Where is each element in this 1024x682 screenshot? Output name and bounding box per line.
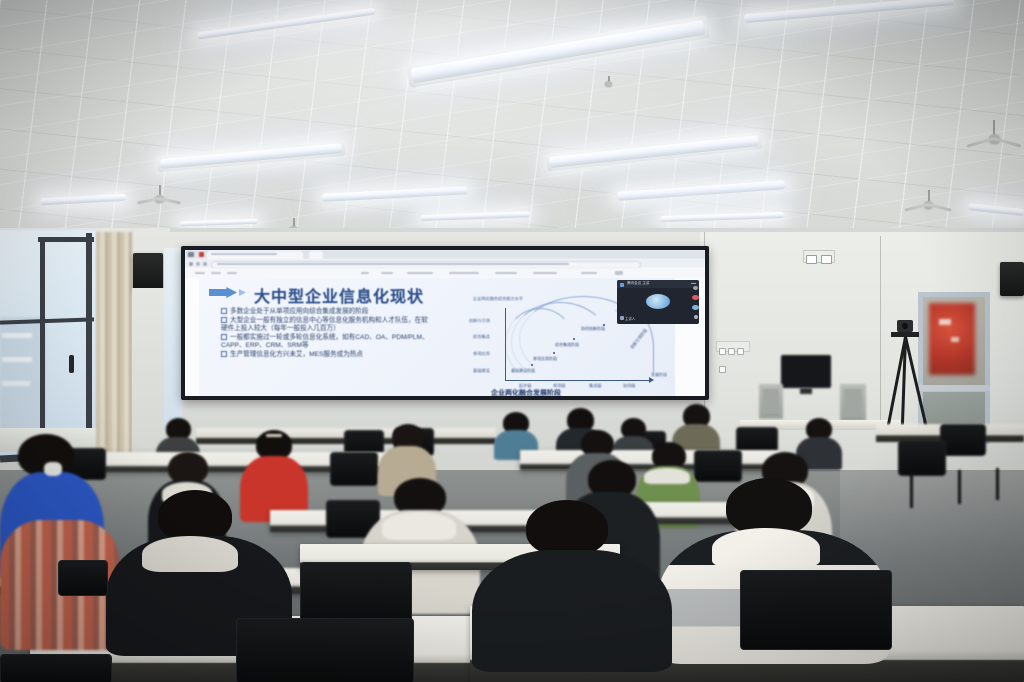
browser-toolbar (185, 259, 705, 268)
meeting-video-panel[interactable]: 腾讯会议 主讲 主讲人 (617, 280, 699, 324)
participant-label: 主讲人 (625, 316, 635, 321)
chair-leg (996, 468, 999, 500)
sidebar-record-icon[interactable] (692, 295, 699, 300)
hood-collar (382, 512, 456, 540)
projected-desktop: 大中型企业信息化现状 多数企业处于从单项应用向综合集成发展的阶段 大型企业一般有… (185, 250, 705, 396)
meeting-mic-icon[interactable] (620, 316, 624, 320)
participant-avatar (646, 294, 670, 309)
meeting-title-bar: 腾讯会议 主讲 (617, 280, 699, 288)
address-bar-url (217, 263, 569, 265)
ceiling-fan (600, 76, 618, 90)
bullet-marker-icon (221, 308, 227, 314)
ribbon-item[interactable] (407, 272, 433, 274)
hood-collar (712, 528, 820, 568)
camera-lens-icon (902, 323, 908, 329)
app-ribbon (185, 268, 705, 278)
student-hair (158, 490, 232, 542)
wall-speaker-right (1000, 262, 1024, 296)
face-mask (44, 462, 62, 476)
favicon (199, 252, 204, 257)
slide-bullet: 大型企业一般有独立的信息中心等信息化服务机构和人才队伍，在软硬件上投入较大（每年… (221, 317, 429, 334)
presentation-slide: 大中型企业信息化现状 多数企业处于从单项应用向综合集成发展的阶段 大型企业一般有… (199, 278, 675, 396)
bullet-marker-icon (221, 317, 227, 323)
chart-annotation: 综合集成阶段 (555, 342, 579, 348)
speaker-right (840, 384, 866, 422)
bullet-text: 生产管理信息化方兴未艾，MES服务成为热点 (230, 351, 363, 358)
ribbon-item[interactable] (449, 272, 479, 274)
window-frame-vertical (40, 237, 45, 459)
chart-annotation: 单项应用阶段 (533, 356, 557, 362)
chart-point (531, 364, 533, 366)
title-arrow-accent-icon (239, 289, 246, 296)
sidebar-more-icon[interactable] (694, 315, 698, 319)
camera-tripod (880, 320, 932, 440)
student-dark-front-center (472, 500, 672, 672)
chair-back[interactable] (898, 440, 946, 476)
browser-tab-strip (185, 250, 705, 259)
ribbon-item[interactable] (615, 271, 623, 275)
chair-leg (958, 470, 961, 504)
chart-x-tick: 集成级 (589, 383, 602, 389)
chair-back[interactable] (0, 654, 112, 682)
window-far-left (164, 248, 182, 432)
meeting-title: 腾讯会议 主讲 (627, 281, 650, 286)
window-handle[interactable] (69, 355, 74, 373)
ceiling-fan (140, 185, 180, 207)
chart-y-tick: 单项应用 (473, 351, 490, 357)
ribbon-item[interactable] (361, 272, 369, 274)
chart-annotation: 协同创新阶段 (581, 326, 605, 332)
sidebar-bookmark-icon[interactable] (693, 286, 698, 290)
chart-y-tick: 综合集成 (473, 334, 490, 340)
browser-menu-icon[interactable] (188, 252, 194, 257)
wall-switch-panel[interactable] (716, 341, 750, 352)
building-window-row (2, 381, 30, 386)
hair-clip (266, 434, 282, 437)
back-icon[interactable] (189, 262, 193, 266)
bullet-text: 大型企业一般有独立的信息中心等信息化服务机构和人才队伍，在软硬件上投入较大（每年… (221, 317, 428, 333)
meeting-close-icon[interactable] (691, 283, 696, 284)
teacher-monitor (781, 355, 831, 388)
sidebar-share-icon[interactable] (692, 305, 699, 310)
tripod-leg (904, 337, 929, 435)
chart-y-tick: 创新与引领 (469, 318, 490, 324)
wall-top-trim (170, 228, 1024, 232)
wall-power-outlet[interactable] (803, 250, 835, 263)
chair-back[interactable] (58, 560, 108, 596)
projection-screen: 大中型企业信息化现状 多数企业处于从单项应用向综合集成发展的阶段 大型企业一般有… (181, 246, 709, 400)
ceiling-fan (968, 120, 1020, 152)
chart-caption: 企业两化融合发展阶段 (491, 388, 561, 396)
bullet-text: 一般都实施过一轮或多轮信息化系统，如有CAD、OA、PDM/PLM、CAPP、E… (221, 334, 429, 350)
wall-speaker-left (133, 253, 163, 291)
chart-annotation: 基础建设阶段 (511, 368, 535, 374)
chart-point (553, 352, 555, 354)
bullet-marker-icon (221, 351, 227, 357)
slide-bullet: 一般都实施过一轮或多轮信息化系统，如有CAD、OA、PDM/PLM、CAPP、E… (221, 334, 429, 351)
building-window-row (2, 333, 32, 338)
window-frame-vertical (86, 233, 92, 459)
poster-highlight (951, 337, 959, 342)
bullet-text: 多数企业处于从单项应用向综合集成发展的阶段 (230, 308, 368, 315)
door-glass-upper (923, 297, 985, 385)
ribbon-item[interactable] (195, 272, 205, 274)
student-hair (526, 500, 608, 556)
chair-back[interactable] (740, 570, 892, 650)
window-frame-horizontal (38, 237, 94, 242)
speaker-left (759, 384, 783, 419)
chair-leg (910, 472, 913, 508)
slide-bullet: 生产管理信息化方兴未艾，MES服务成为热点 (221, 351, 429, 360)
chair-back[interactable] (236, 618, 414, 682)
ribbon-item[interactable] (495, 272, 517, 274)
slide-bullet: 多数企业处于从单项应用向综合集成发展的阶段 (221, 308, 439, 317)
slide-bullet-list: 多数企业处于从单项应用向综合集成发展的阶段 大型企业一般有独立的信息中心等信息化… (221, 308, 439, 360)
bullet-marker-icon (221, 334, 227, 340)
ribbon-item[interactable] (211, 272, 221, 274)
ribbon-item[interactable] (381, 272, 393, 274)
monitor-stand (800, 388, 812, 394)
title-arrow-icon (209, 287, 237, 298)
slide-title: 大中型企业信息化现状 (254, 283, 424, 307)
chart-x-tick: 协同级 (623, 383, 636, 389)
reload-icon[interactable] (203, 262, 207, 266)
chart-point (573, 338, 575, 340)
browser-new-tab[interactable] (309, 251, 323, 259)
chair-back[interactable] (940, 424, 986, 456)
student-torso (472, 550, 672, 672)
window-curtain (96, 232, 132, 460)
forward-icon[interactable] (196, 262, 200, 266)
classroom-photo-scene: 大中型企业信息化现状 多数企业处于从单项应用向综合集成发展的阶段 大型企业一般有… (0, 0, 1024, 682)
ceiling-fan (906, 190, 952, 216)
hood-collar (142, 536, 238, 572)
poster-highlight (939, 319, 951, 325)
chart-y-tick: 基础建设 (473, 368, 490, 374)
browser-sidebar-icons (690, 286, 702, 330)
ribbon-item[interactable] (227, 272, 237, 274)
meeting-app-icon (620, 283, 624, 287)
building-window-row (2, 357, 32, 362)
browser-tab-title (211, 253, 277, 255)
ribbon-item[interactable] (533, 272, 557, 274)
chart-y-axis-title: 企业两化融合综合能力水平 (471, 296, 525, 302)
ribbon-item[interactable] (581, 272, 597, 274)
